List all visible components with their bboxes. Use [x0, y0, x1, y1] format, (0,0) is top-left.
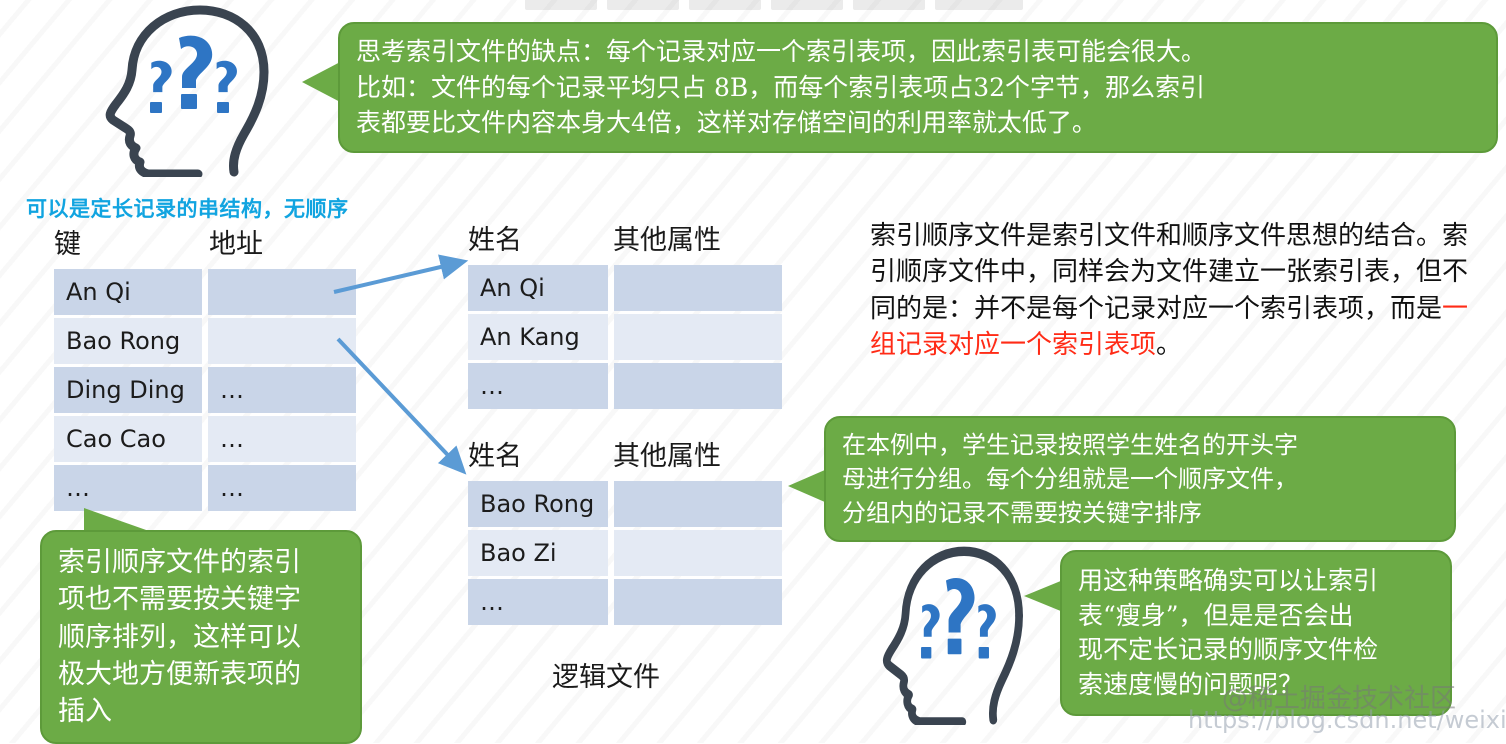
cell-key: …	[54, 465, 202, 511]
col-header-address: 地址	[209, 222, 359, 261]
cell-key: An Qi	[54, 269, 202, 315]
cell-address	[208, 269, 356, 315]
callout-line: 表“瘦身”，但是是否会出	[1078, 599, 1434, 634]
cell-other	[614, 265, 782, 311]
table-row: Bao Zi	[468, 530, 783, 576]
table-row: Cao Cao …	[54, 416, 359, 462]
logical-file-group-b: 姓名 其他属性 Bao Rong Bao Zi …	[468, 434, 783, 628]
watermark-url: https://blog.csdn.net/weixin_43914604	[1188, 706, 1506, 734]
callout-line: 索引顺序文件的索引	[58, 544, 344, 581]
paragraph-plain-2: 。	[1156, 330, 1182, 360]
group-a-header: 姓名 其他属性	[468, 218, 783, 257]
slide-canvas: 思考索引文件的缺点：每个记录对应一个索引表项，因此索引表可能会很大。 比如：文件…	[0, 0, 1506, 743]
cell-other	[614, 579, 782, 625]
callout-line: 极大地方便新表项的	[58, 656, 344, 693]
head-question-icon-bottom	[866, 543, 1038, 725]
index-table: 键 地址 An Qi Bao Rong Ding Ding … Cao Cao …	[54, 222, 359, 514]
table-row: Bao Rong	[468, 481, 783, 527]
cell-name: An Qi	[468, 265, 608, 311]
cell-address: …	[208, 465, 356, 511]
group-b-header: 姓名 其他属性	[468, 434, 783, 473]
col-header-other-attrs: 其他属性	[613, 218, 783, 257]
callout-line: 插入	[58, 693, 344, 730]
callout-line: 顺序排列，这样可以	[58, 619, 344, 656]
col-header-name: 姓名	[468, 218, 613, 257]
callout-line: 项也不需要按关键字	[58, 581, 344, 618]
cell-other	[614, 363, 782, 409]
table-row: An Qi	[54, 269, 359, 315]
callout-line: 现不定长记录的顺序文件检	[1078, 633, 1434, 668]
think-index-drawback-callout: 思考索引文件的缺点：每个记录对应一个索引表项，因此索引表可能会很大。 比如：文件…	[338, 22, 1498, 153]
cell-name: Bao Rong	[468, 481, 608, 527]
cell-name: …	[468, 579, 608, 625]
callout-line: 分组内的记录不需要按关键字排序	[842, 496, 1438, 530]
head-question-icon-top	[86, 2, 286, 177]
col-header-other-attrs: 其他属性	[613, 434, 783, 473]
cell-name: Bao Zi	[468, 530, 608, 576]
logical-file-caption: 逻辑文件	[552, 655, 660, 694]
index-entry-order-callout: 索引顺序文件的索引 项也不需要按关键字 顺序排列，这样可以 极大地方便新表项的 …	[40, 530, 362, 744]
cell-key: Ding Ding	[54, 367, 202, 413]
col-header-name: 姓名	[468, 434, 613, 473]
col-header-key: 键	[54, 222, 209, 261]
cell-address	[208, 318, 356, 364]
table-row: … …	[54, 465, 359, 511]
table-row: …	[468, 579, 783, 625]
cell-other	[614, 530, 782, 576]
table-row: An Kang	[468, 314, 783, 360]
index-table-note: 可以是定长记录的串结构，无顺序	[26, 193, 349, 223]
callout-line: 比如：文件的每个记录平均只占 8B，而每个索引表项占32个字节，那么索引	[356, 70, 1480, 106]
index-sequential-description: 索引顺序文件是索引文件和顺序文件思想的结合。索引顺序文件中，同样会为文件建立一张…	[870, 218, 1472, 364]
callout-line: 在本例中，学生记录按照学生姓名的开头字	[842, 428, 1438, 462]
cell-key: Cao Cao	[54, 416, 202, 462]
cell-name: An Kang	[468, 314, 608, 360]
grouping-explanation-callout: 在本例中，学生记录按照学生姓名的开头字 母进行分组。每个分组就是一个顺序文件， …	[824, 416, 1456, 542]
table-row: An Qi	[468, 265, 783, 311]
callout-line: 表都要比文件内容本身大4倍，这样对存储空间的利用率就太低了。	[356, 105, 1480, 141]
index-table-header: 键 地址	[54, 222, 359, 261]
logical-file-group-a: 姓名 其他属性 An Qi An Kang …	[468, 218, 783, 412]
callout-line: 母进行分组。每个分组就是一个顺序文件，	[842, 462, 1438, 496]
cell-address: …	[208, 416, 356, 462]
cell-address: …	[208, 367, 356, 413]
callout-line: 思考索引文件的缺点：每个记录对应一个索引表项，因此索引表可能会很大。	[356, 34, 1480, 70]
cell-name: …	[468, 363, 608, 409]
table-row: Ding Ding …	[54, 367, 359, 413]
cell-other	[614, 481, 782, 527]
paragraph-plain-1: 索引顺序文件是索引文件和顺序文件思想的结合。索引顺序文件中，同样会为文件建立一张…	[870, 221, 1468, 324]
cell-other	[614, 314, 782, 360]
cell-key: Bao Rong	[54, 318, 202, 364]
table-row: …	[468, 363, 783, 409]
callout-line: 用这种策略确实可以让索引	[1078, 564, 1434, 599]
table-row: Bao Rong	[54, 318, 359, 364]
